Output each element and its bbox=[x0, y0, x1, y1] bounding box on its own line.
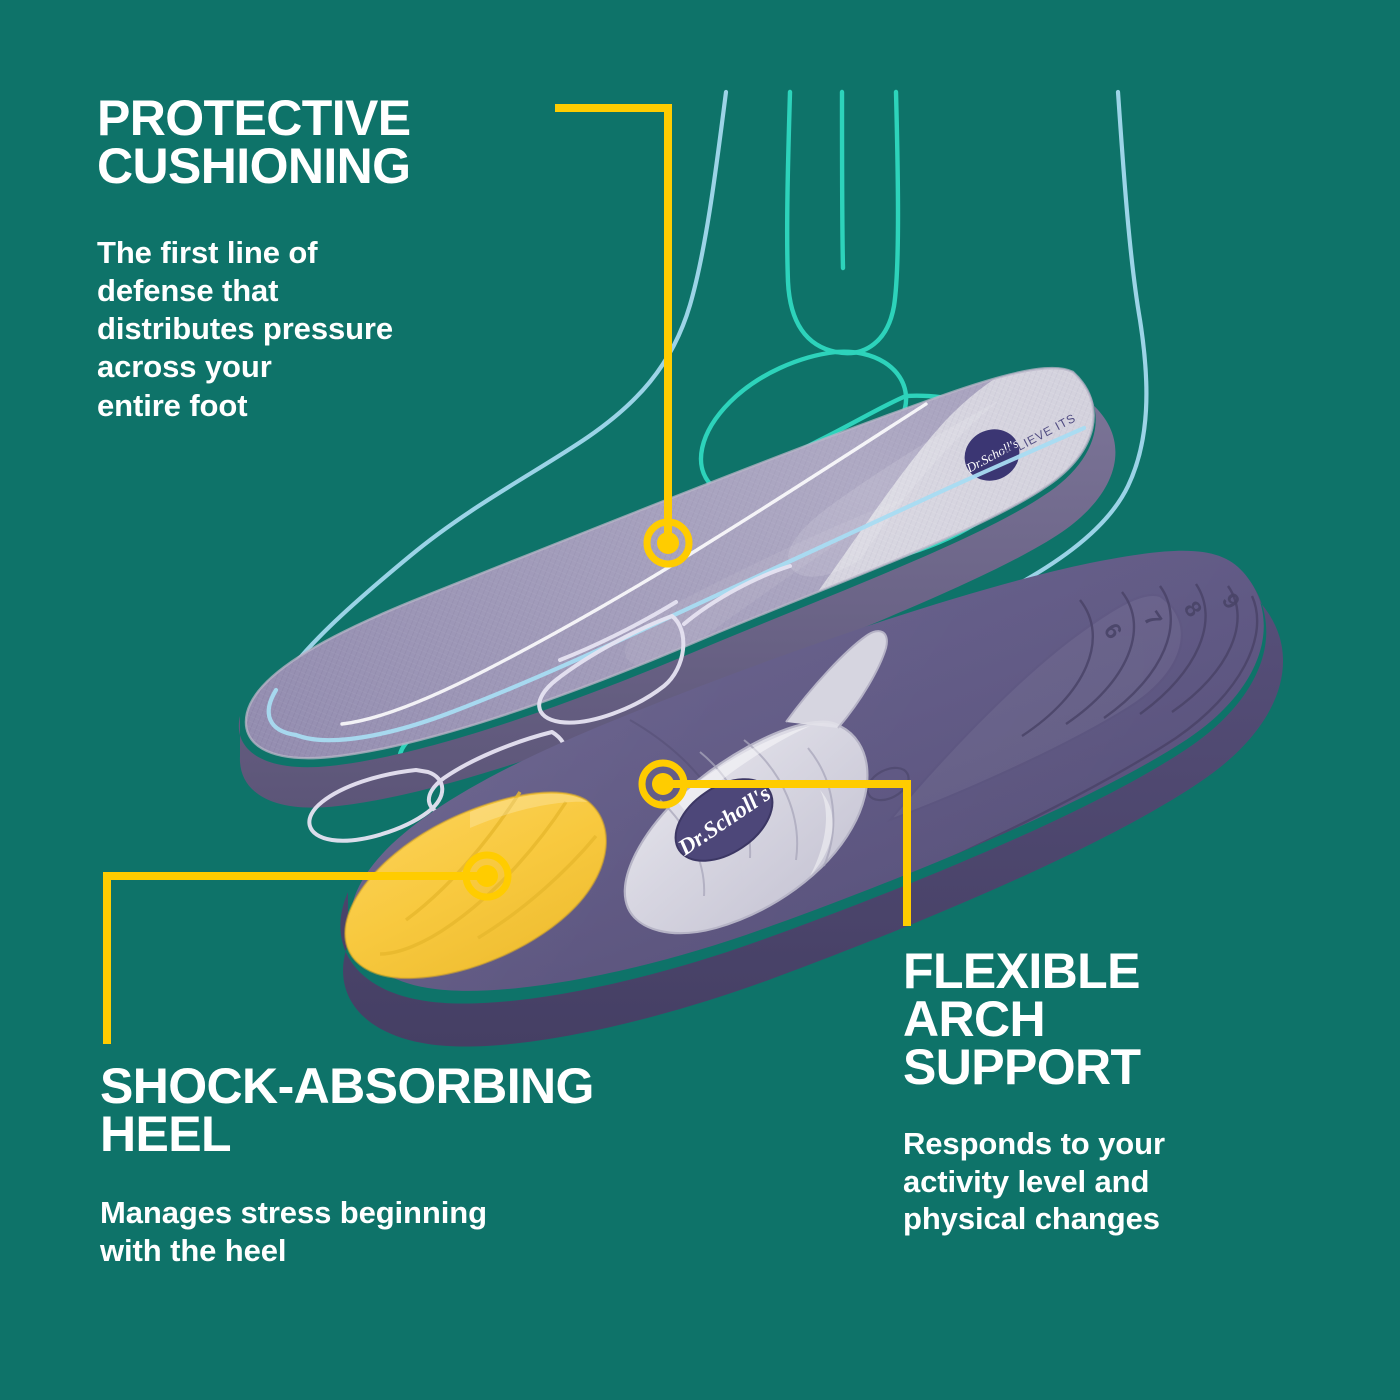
callout-body-flexible-arch-support: Responds to your activity level and phys… bbox=[903, 1125, 1303, 1238]
callout-body-shock-absorbing-heel: Manages stress beginning with the heel bbox=[100, 1194, 800, 1269]
callout-protective-cushioning: PROTECTIVE CUSHIONING The first line of … bbox=[97, 94, 567, 425]
callout-heading-flexible-arch-support: FLEXIBLE ARCH SUPPORT bbox=[903, 947, 1303, 1091]
callout-shock-absorbing-heel: SHOCK-ABSORBING HEEL Manages stress begi… bbox=[100, 1062, 800, 1269]
infographic-canvas: Dr.Scholl's RELIEVE ITS bbox=[0, 0, 1400, 1400]
callout-body-protective-cushioning: The first line of defense that distribut… bbox=[97, 234, 567, 425]
callout-heading-shock-absorbing-heel: SHOCK-ABSORBING HEEL bbox=[100, 1062, 800, 1158]
callout-heading-protective-cushioning: PROTECTIVE CUSHIONING bbox=[97, 94, 567, 190]
leader-protective-cushioning bbox=[559, 108, 668, 543]
callout-flexible-arch-support: FLEXIBLE ARCH SUPPORT Responds to your a… bbox=[903, 947, 1303, 1238]
